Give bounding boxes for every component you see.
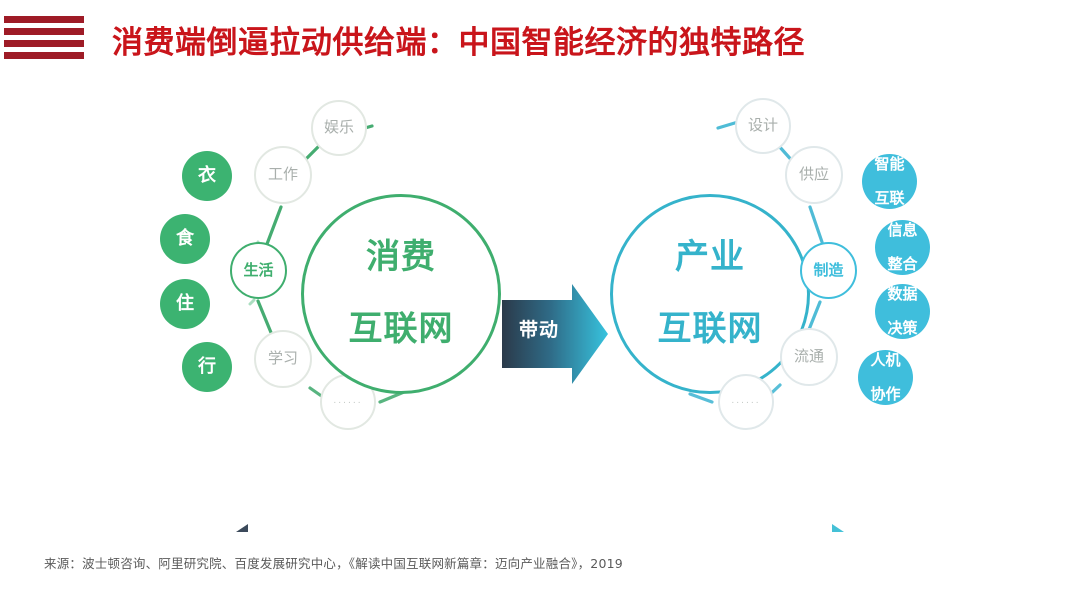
- node-yi-label: 衣: [198, 166, 216, 186]
- node-zhizao-label: 制造: [813, 263, 843, 279]
- hub-consumer-internet[interactable]: 消费 互联网: [301, 194, 501, 394]
- node-sheji-label: 设计: [748, 118, 778, 134]
- source-note: 来源：波士顿咨询、阿里研究院、百度发展研究中心，《解读中国互联网新篇章：迈向产业…: [44, 553, 623, 572]
- hub-consumer-internet-label: 消费 互联网: [349, 240, 454, 347]
- hub-industrial-line1: 产业: [658, 240, 763, 276]
- node-yule-label: 娱乐: [324, 120, 354, 136]
- node-human-machine[interactable]: 人机 协作: [858, 350, 913, 405]
- node-data-decision-line1: 数据: [887, 286, 917, 303]
- node-shenghuo[interactable]: 生活: [230, 242, 287, 299]
- node-smart-connect-line2: 互联: [874, 190, 904, 207]
- node-info-integration[interactable]: 信息 整合: [875, 220, 930, 275]
- slide-header: 消费端倒逼拉动供给端：中国智能经济的独特路径: [0, 0, 1080, 72]
- spectrum-arrow-shape: [200, 524, 880, 532]
- node-data-decision-line2: 决策: [887, 320, 917, 337]
- node-shi[interactable]: 食: [160, 214, 210, 264]
- node-shenghuo-label: 生活: [243, 263, 273, 279]
- four-bar-logo-icon: [4, 16, 84, 60]
- node-sheji[interactable]: 设计: [735, 98, 791, 154]
- slide-root: 消费端倒逼拉动供给端：中国智能经济的独特路径: [0, 0, 1080, 607]
- node-smart-connect[interactable]: 智能 互联: [862, 154, 917, 209]
- drive-arrow-label: 带动: [508, 315, 570, 342]
- node-zhu-label: 住: [176, 294, 194, 314]
- node-liutong[interactable]: 流通: [780, 328, 838, 386]
- page-title: 消费端倒逼拉动供给端：中国智能经济的独特路径: [112, 17, 805, 62]
- node-shi-label: 食: [176, 229, 194, 249]
- node-human-machine-line2: 协作: [870, 386, 900, 403]
- spectrum-label-back: 后端: [767, 474, 811, 503]
- node-smart-connect-label: 智能 互联: [874, 156, 904, 206]
- node-right-ellipsis[interactable]: ......: [718, 374, 774, 430]
- node-gongying-label: 供应: [799, 167, 829, 183]
- node-human-machine-label: 人机 协作: [870, 352, 900, 402]
- node-data-decision[interactable]: 数据 决策: [875, 284, 930, 339]
- node-gongying[interactable]: 供应: [785, 146, 843, 204]
- node-data-decision-label: 数据 决策: [887, 286, 917, 336]
- hub-industrial-internet-label: 产业 互联网: [658, 240, 763, 347]
- node-info-integration-label: 信息 整合: [887, 222, 917, 272]
- hub-industrial-line2: 互联网: [658, 312, 763, 348]
- node-info-integration-line2: 整合: [887, 256, 917, 273]
- node-yi[interactable]: 衣: [182, 151, 232, 201]
- node-xing[interactable]: 行: [182, 342, 232, 392]
- node-human-machine-line1: 人机: [870, 352, 900, 369]
- node-xuexi[interactable]: 学习: [254, 330, 312, 388]
- node-liutong-label: 流通: [794, 349, 824, 365]
- node-gongzuo-label: 工作: [268, 167, 298, 183]
- node-gongzuo[interactable]: 工作: [254, 146, 312, 204]
- node-yule[interactable]: 娱乐: [311, 100, 367, 156]
- node-left-ellipsis-label: ......: [333, 397, 362, 406]
- diagram-canvas: 带动 衣 食 住 行 娱乐 工作 学习 ...... 生活: [0, 72, 1080, 532]
- spectrum-label-front: 前端: [277, 474, 321, 503]
- hub-consumer-line1: 消费: [349, 240, 454, 276]
- node-zhu[interactable]: 住: [160, 279, 210, 329]
- node-xuexi-label: 学习: [268, 351, 298, 367]
- node-xing-label: 行: [198, 357, 216, 377]
- node-smart-connect-line1: 智能: [874, 156, 904, 173]
- node-info-integration-line1: 信息: [887, 222, 917, 239]
- node-zhizao[interactable]: 制造: [800, 242, 857, 299]
- node-right-ellipsis-label: ......: [731, 397, 760, 406]
- hub-consumer-line2: 互联网: [349, 312, 454, 348]
